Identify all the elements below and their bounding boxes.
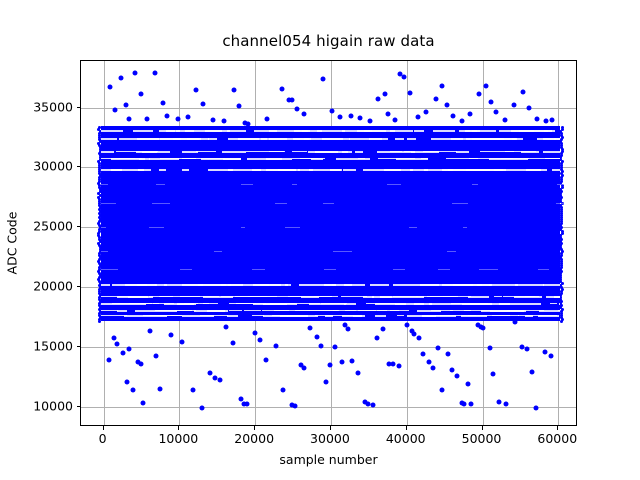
data-point-outlier-low [497,399,502,404]
data-point-outlier-low [350,359,355,364]
band-striation [441,151,457,152]
band-striation-faint [387,184,401,185]
x-tick-label: 30000 [310,431,350,446]
y-tick-label: 10000 [33,398,73,413]
y-tick-mark [77,107,81,108]
band-striation-faint [438,269,450,270]
data-point-outlier-high [424,110,429,115]
data-point-outlier-low [112,336,117,341]
data-point-outlier-low [319,343,324,348]
data-point-outlier-high [112,108,117,113]
band-striation [486,138,500,140]
band-striation-faint [101,203,116,204]
data-point-outlier-low [324,379,329,384]
band-striation [266,158,291,160]
x-tick-mark [482,426,483,430]
data-point-outlier-high [439,84,444,89]
band-striation [526,169,541,170]
band-striation [330,169,341,170]
x-tick-mark [330,426,331,430]
data-point-outlier-high [392,117,397,122]
data-point-outlier-high [144,117,149,122]
y-tick-label: 25000 [33,219,73,234]
band-striation [317,130,346,131]
data-point-outlier-low [345,326,350,331]
data-point-outlier-low [281,387,286,392]
band-striation-faint [152,203,170,204]
data-point-outlier-low [121,350,126,355]
data-point-outlier-low [263,358,268,363]
band-striation [269,151,284,152]
data-point-outlier-low [533,405,538,410]
data-point-outlier-low [549,354,554,359]
data-point-outlier-high [161,101,166,106]
band-striation [539,310,560,312]
data-point-outlier-low [445,352,450,357]
data-point-outlier-low [431,366,436,371]
band-striation [414,130,425,132]
band-striation [111,169,122,170]
data-point-outlier-high [194,87,199,92]
band-striation-faint [463,227,467,228]
band-striation [358,158,365,159]
band-striation [248,296,267,297]
band-striation [390,151,402,152]
dense-data-band [101,126,560,321]
band-striation-faint [324,269,336,270]
data-point-outlier-low [525,347,530,352]
band-striation [175,310,192,311]
y-tick-mark [77,226,81,227]
data-point-outlier-low [153,354,158,359]
band-striation [423,151,441,152]
data-point-outlier-low [125,379,130,384]
x-axis-label: sample number [80,452,577,467]
data-point-outlier-high [358,116,363,121]
y-tick-label: 35000 [33,99,73,114]
band-striation [322,138,343,140]
data-point-outlier-high [133,70,138,75]
band-striation [138,169,151,170]
data-point-outlier-high [338,115,343,120]
band-striation [375,315,387,317]
data-point-outlier-low [212,375,217,380]
band-striation [494,169,506,171]
band-striation [207,310,224,312]
band-striation [481,303,488,304]
data-point-outlier-low [127,347,132,352]
data-point-outlier-low [140,401,145,406]
band-striation [515,284,544,285]
y-gridline [81,407,576,408]
data-point-outlier-high [127,117,132,122]
band-striation-faint [285,227,301,228]
data-point-outlier-low [301,366,306,371]
band-striation [101,138,116,139]
data-point-outlier-high [460,118,465,123]
data-point-outlier-high [165,114,170,119]
data-point-outlier-high [488,100,493,105]
band-striation [397,315,404,316]
data-point-outlier-high [139,92,144,97]
band-striation [344,303,356,305]
data-point-outlier-low [158,386,163,391]
band-striation [200,315,228,316]
band-striation [390,130,413,131]
data-point-outlier-high [186,115,191,120]
data-point-outlier-high [108,85,113,90]
band-striation [545,158,560,159]
band-striation [278,169,296,170]
band-striation [344,284,353,285]
data-point-outlier-high [237,104,242,109]
data-point-outlier-high [407,91,412,96]
band-striation-faint [149,227,164,228]
data-point-outlier-high [483,84,488,89]
y-axis-label: ADC Code [5,212,20,275]
data-point-outlier-low [218,378,223,383]
data-point-outlier-high [294,107,299,112]
data-point-outlier-low [375,336,380,341]
band-striation [358,310,376,311]
data-point-outlier-high [550,117,555,122]
band-striation [314,296,338,297]
x-tick-label: 50000 [462,431,502,446]
band-striation [521,151,539,153]
band-striation [468,296,490,298]
data-point-outlier-low [253,330,258,335]
plot-axes [80,60,577,426]
x-tick-mark [178,426,179,430]
band-striation-faint [452,203,468,204]
band-striation [494,296,502,297]
data-point-outlier-low [462,401,467,406]
data-point-outlier-high [119,76,124,81]
band-striation [292,151,307,152]
band-striation [421,158,428,159]
band-striation [223,158,241,160]
band-striation [117,310,127,312]
band-striation [390,310,409,311]
band-striation [559,303,560,305]
band-striation [414,303,423,305]
data-point-outlier-low [529,369,534,374]
data-point-outlier-low [435,346,440,351]
data-point-outlier-high [124,102,129,107]
x-tick-mark [406,426,407,430]
y-tick-mark [77,286,81,287]
band-striation [153,303,159,304]
data-point-outlier-low [513,319,518,324]
band-striation [342,151,349,153]
band-edge-speck [98,320,101,323]
data-point-outlier-low [244,401,249,406]
band-striation [554,138,560,139]
band-striation [141,303,152,304]
band-striation [369,138,388,140]
band-striation-faint [556,203,576,204]
band-striation [101,130,117,131]
band-striation-faint [538,269,549,270]
band-striation [139,158,149,160]
band-striation [227,130,246,132]
data-point-outlier-high [444,103,449,108]
data-point-outlier-low [131,387,136,392]
band-striation [489,284,518,285]
data-point-outlier-low [328,362,333,367]
data-point-outlier-high [175,117,180,122]
band-striation [171,315,182,316]
data-point-outlier-low [333,344,338,349]
band-striation [137,284,157,285]
band-striation-faint [180,269,192,270]
data-point-outlier-high [210,117,215,122]
data-point-outlier-low [469,402,474,407]
y-tick-label: 15000 [33,338,73,353]
chart-title: channel054 higain raw data [80,32,577,50]
data-point-outlier-high [526,105,531,110]
data-point-outlier-high [265,117,270,122]
data-point-outlier-high [200,102,205,107]
data-point-outlier-high [279,86,284,91]
data-point-outlier-high [402,75,407,80]
band-striation [407,138,417,139]
data-point-outlier-low [416,336,421,341]
data-point-outlier-high [535,117,540,122]
band-striation [558,310,560,311]
data-point-outlier-high [503,117,508,122]
band-striation-faint [241,184,254,185]
x-tick-label: 60000 [537,431,577,446]
band-striation-faint [479,269,499,270]
band-striation [456,151,469,153]
data-point-outlier-low [207,371,212,376]
y-tick-mark [77,166,81,167]
data-point-outlier-high [382,91,387,96]
band-striation [182,169,190,171]
band-striation-faint [156,184,165,185]
data-point-outlier-low [405,323,410,328]
band-striation-faint [333,251,352,252]
data-point-outlier-high [544,118,549,123]
data-point-outlier-high [520,89,525,94]
band-striation [393,296,418,297]
data-point-outlier-low [147,329,152,334]
band-striation [285,284,291,285]
y-tick-label: 30000 [33,159,73,174]
band-striation [524,303,542,305]
band-striation [325,315,333,317]
y-gridline [81,347,576,348]
band-striation [101,315,127,316]
data-point-outlier-low [504,402,509,407]
band-striation [433,130,454,131]
data-point-outlier-high [231,87,236,92]
data-point-outlier-high [153,70,158,75]
data-point-outlier-low [481,325,486,330]
data-point-outlier-high [301,112,306,117]
data-point-outlier-low [397,364,402,369]
data-point-outlier-low [370,403,375,408]
x-tick-mark [557,426,558,430]
data-point-outlier-low [115,342,120,347]
band-striation [159,296,172,297]
y-tick-label: 20000 [33,279,73,294]
data-point-outlier-low [466,381,471,386]
band-striation [355,151,364,153]
data-point-outlier-high [434,97,439,102]
data-point-outlier-low [412,331,417,336]
data-point-outlier-low [381,326,386,331]
band-striation [512,138,523,139]
band-striation [543,284,560,286]
data-point-outlier-low [179,340,184,345]
band-striation-faint [252,269,265,270]
band-striation-faint [447,251,456,252]
data-point-outlier-low [257,337,262,342]
band-striation-faint [101,269,118,270]
band-striation [370,284,389,286]
data-point-outlier-low [519,344,524,349]
plot-area [81,61,576,425]
band-striation [101,310,118,311]
band-striation-faint [214,251,221,252]
data-point-outlier-high [245,121,250,126]
band-striation-faint [101,227,106,228]
data-point-outlier-low [274,343,279,348]
data-point-outlier-high [329,109,334,114]
band-striation [395,138,404,139]
band-striation [222,151,246,153]
band-striation-faint [557,184,573,185]
data-point-outlier-low [454,373,459,378]
matplotlib-figure: channel054 higain raw data ADC Code samp… [0,0,640,480]
band-striation [203,303,209,304]
band-striation [229,310,242,311]
data-point-outlier-low [293,404,298,409]
x-tick-mark [103,426,104,430]
y-tick-mark [77,346,81,347]
x-tick-label: 0 [99,431,107,446]
band-striation-faint [472,184,478,185]
x-tick-mark [254,426,255,430]
data-point-outlier-low [356,371,361,376]
data-point-outlier-high [367,118,372,123]
data-point-outlier-low [421,352,426,357]
data-point-outlier-high [450,114,455,119]
data-point-outlier-low [488,346,493,351]
data-point-outlier-high [290,98,295,103]
data-point-outlier-low [308,325,313,330]
band-striation [499,303,524,305]
band-striation-faint [409,227,417,228]
band-striation [227,315,238,317]
band-striation-faint [292,184,296,185]
y-gridline [81,108,576,109]
band-striation [238,138,259,139]
band-striation [538,315,559,317]
data-point-outlier-low [224,324,229,329]
data-point-outlier-high [385,112,390,117]
data-point-outlier-high [320,76,325,81]
band-striation [117,130,123,131]
band-striation-faint [393,269,405,270]
band-striation [159,169,166,170]
data-point-outlier-low [391,361,396,366]
data-point-outlier-low [231,341,236,346]
band-striation [101,151,114,153]
band-striation [311,158,323,160]
band-striation [472,130,496,131]
band-striation [525,315,533,317]
data-point-outlier-low [106,358,111,363]
data-point-outlier-high [494,110,499,115]
data-point-outlier-low [340,360,345,365]
data-point-outlier-high [375,97,380,102]
data-point-outlier-low [543,349,548,354]
x-tick-label: 10000 [158,431,198,446]
data-point-outlier-high [416,115,421,120]
band-striation [353,315,361,317]
band-striation [244,310,261,311]
y-tick-mark [77,406,81,407]
band-striation-faint [241,227,245,228]
data-point-outlier-high [222,118,227,123]
band-striation-faint [101,184,108,185]
band-striation [208,138,218,139]
band-striation [384,169,413,171]
band-striation [101,284,110,286]
band-edge-speck [560,320,563,323]
band-striation [336,158,370,160]
band-striation [187,138,209,139]
band-striation [554,296,560,298]
band-striation-faint [275,203,288,204]
band-striation [343,169,356,171]
data-point-outlier-low [314,335,319,340]
band-striation [155,151,170,153]
data-point-outlier-low [426,360,431,365]
data-point-outlier-low [491,372,496,377]
data-point-outlier-low [200,405,205,410]
data-point-outlier-high [477,92,482,97]
band-striation [133,130,153,132]
data-point-outlier-high [468,112,473,117]
data-point-outlier-low [138,361,143,366]
band-striation [136,296,148,297]
data-point-outlier-low [191,387,196,392]
band-striation-faint [323,203,334,204]
data-point-outlier-low [169,332,174,337]
data-point-outlier-high [512,103,517,108]
band-striation [287,315,318,317]
band-striation [525,296,539,297]
data-point-outlier-high [349,114,354,119]
band-striation [492,315,519,316]
band-striation [196,151,216,152]
band-striation [260,284,281,285]
band-striation [552,169,560,171]
band-striation-faint [101,251,108,252]
data-point-outlier-low [439,387,444,392]
data-point-outlier-low [450,367,455,372]
band-striation [543,151,560,153]
x-tick-label: 40000 [386,431,426,446]
band-striation [550,303,557,304]
band-striation [544,130,555,131]
x-tick-label: 20000 [234,431,274,446]
